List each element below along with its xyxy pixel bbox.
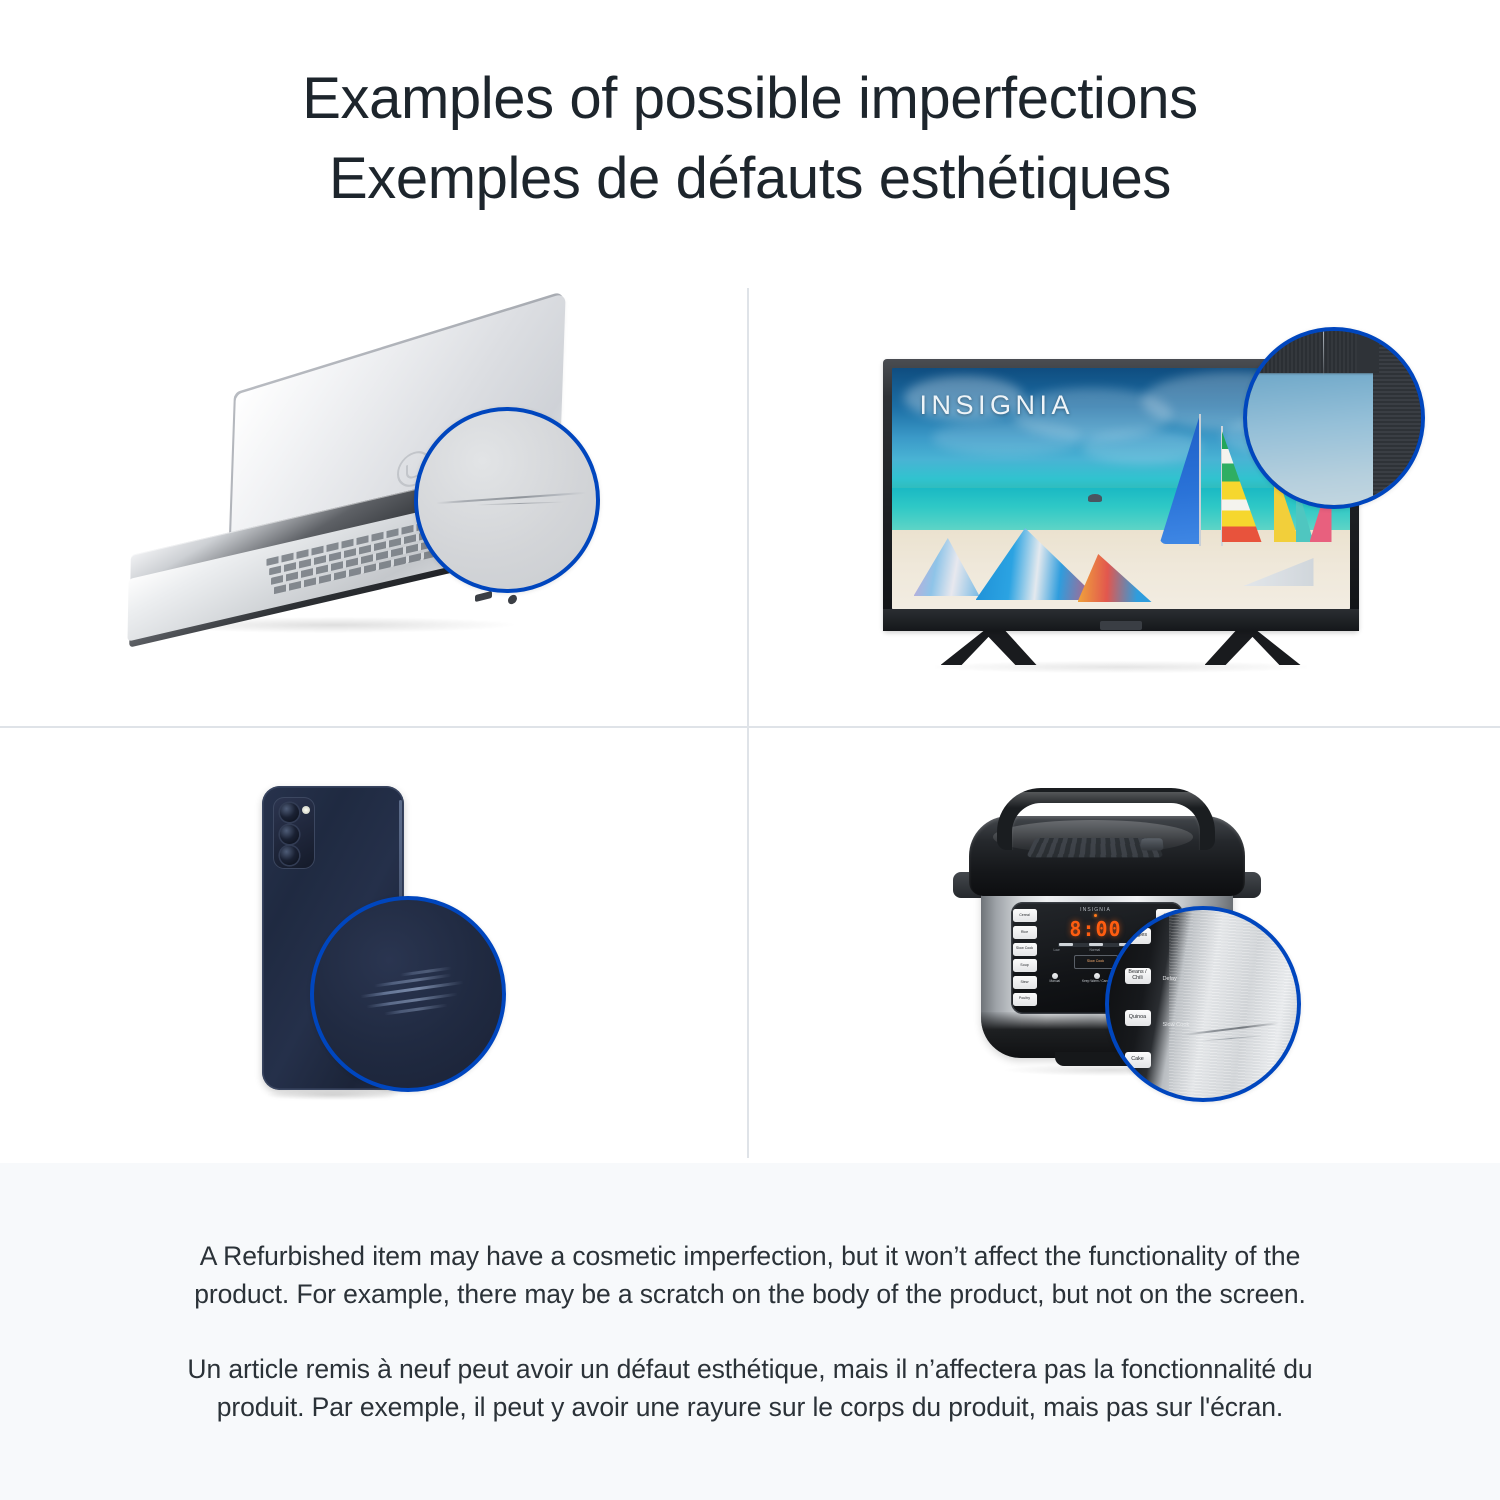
- laptop-defect-magnifier: [414, 407, 600, 593]
- cooker-round-button[interactable]: [1052, 973, 1058, 979]
- cooker-mode-readout: Slow Cook: [1074, 955, 1118, 969]
- cooker-round-button[interactable]: [1094, 973, 1100, 979]
- tv-bottom-bezel: [883, 609, 1359, 631]
- tv-shadow: [935, 661, 1307, 673]
- cooker-magnified-button: Beans / Chili: [1125, 968, 1151, 984]
- tv-scene-distant-boat: [1088, 494, 1102, 502]
- cooker-strip-label: Low: [1054, 948, 1060, 952]
- cooker-magnified-button: Veggies: [1125, 928, 1151, 944]
- laptop-illustration: [114, 337, 634, 667]
- cooker-magnified-button: Quinoa: [1125, 1010, 1151, 1026]
- pressure-cooker-illustration: Cereal Rice Slow Cook Soup Stew Poultry …: [945, 776, 1305, 1116]
- panel-pressure-cooker: Cereal Rice Slow Cook Soup Stew Poultry …: [749, 728, 1500, 1163]
- cooker-button[interactable]: Rice: [1013, 926, 1037, 939]
- description-english: A Refurbished item may have a cosmetic i…: [170, 1237, 1330, 1313]
- phone-camera-lens-one: [280, 803, 299, 822]
- tv-magnifier-corner: [1357, 327, 1379, 373]
- cooker-button[interactable]: Soup: [1013, 959, 1037, 972]
- phone-camera-lens-three: [280, 846, 299, 865]
- cooker-time-display: 8:00: [1069, 919, 1121, 939]
- cooker-magnifier-brushed-steel: [1169, 910, 1297, 1098]
- cooker-round-button-label: Manual: [1050, 980, 1060, 983]
- cooker-button[interactable]: Cereal: [1013, 909, 1037, 922]
- laptop-audio-jack: [508, 594, 517, 605]
- cooker-magnified-label: Slow Cook: [1163, 1022, 1190, 1028]
- television-illustration: INSIGNIA: [875, 327, 1375, 677]
- phone-shadow: [268, 1090, 398, 1100]
- laptop-usb-port: [475, 591, 492, 602]
- phone-camera-flash-icon: [302, 806, 310, 814]
- phone-camera-lens-two: [280, 825, 299, 844]
- cooker-handle-gloss: [1007, 792, 1205, 808]
- tv-bezel-scuff-mark: [1323, 331, 1325, 375]
- cooker-button[interactable]: Poultry: [1013, 993, 1037, 1006]
- page-title-french: Exemples de défauts esthétiques: [329, 139, 1171, 219]
- panel-laptop: [0, 278, 747, 726]
- page-title-english: Examples of possible imperfections: [302, 59, 1197, 139]
- panel-television: INSIGNIA: [749, 278, 1500, 726]
- cooker-button[interactable]: Slow Cook: [1013, 943, 1037, 956]
- insignia-screen-logo: INSIGNIA: [920, 390, 1075, 421]
- refurbished-imperfections-infographic: Examples of possible imperfections Exemp…: [0, 0, 1500, 1500]
- description-panel: A Refurbished item may have a cosmetic i…: [0, 1163, 1500, 1500]
- description-french: Un article remis à neuf peut avoir un dé…: [170, 1350, 1330, 1426]
- cooker-magnified-label: Delay: [1163, 976, 1177, 982]
- cooker-defect-magnifier: Veggies Beans / Chili Quinoa Cake Delay …: [1105, 906, 1301, 1102]
- tv-magnifier-bezel-right: [1373, 327, 1425, 509]
- tv-defect-magnifier: [1243, 327, 1425, 509]
- cooker-pressure-level-strip: [1058, 943, 1134, 947]
- smartphone-illustration: [214, 776, 534, 1116]
- cooker-strip-label: Normal: [1089, 948, 1100, 952]
- tv-leg-right: [1205, 627, 1301, 665]
- laptop-scratch-mark-secondary: [476, 501, 564, 505]
- phone-defect-magnifier: [310, 896, 506, 1092]
- tv-scene-mast-one: [1199, 414, 1201, 546]
- cooker-button[interactable]: Stew: [1013, 976, 1037, 989]
- tv-ir-sensor: [1100, 621, 1142, 630]
- phone-camera-module: [273, 797, 315, 869]
- panel-smartphone: [0, 728, 747, 1163]
- phone-scratch-mark: [384, 1003, 448, 1014]
- header: Examples of possible imperfections Exemp…: [0, 0, 1500, 278]
- tv-magnifier-screen-content: [1243, 373, 1393, 509]
- cooker-magnified-button: Cake: [1125, 1052, 1151, 1068]
- tv-leg-left: [941, 627, 1037, 665]
- insignia-cooker-logo: INSIGNIA: [1080, 907, 1111, 913]
- product-examples-grid: INSIGNIA: [0, 278, 1500, 1163]
- cooker-button-column-left: Cereal Rice Slow Cook Soup Stew Poultry: [1011, 902, 1039, 1014]
